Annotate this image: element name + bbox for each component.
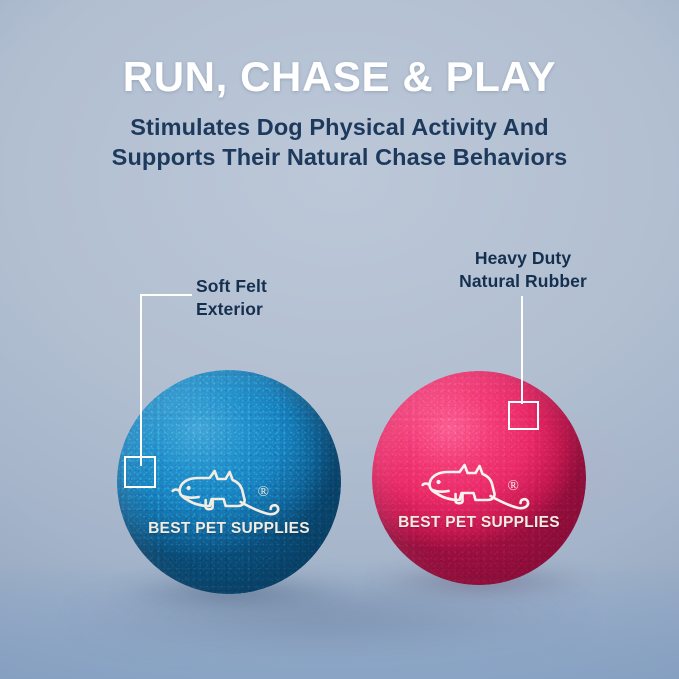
product-marketing-image: RUN, CHASE & PLAY Stimulates Dog Physica…: [0, 0, 679, 679]
background-vignette: [0, 0, 679, 679]
